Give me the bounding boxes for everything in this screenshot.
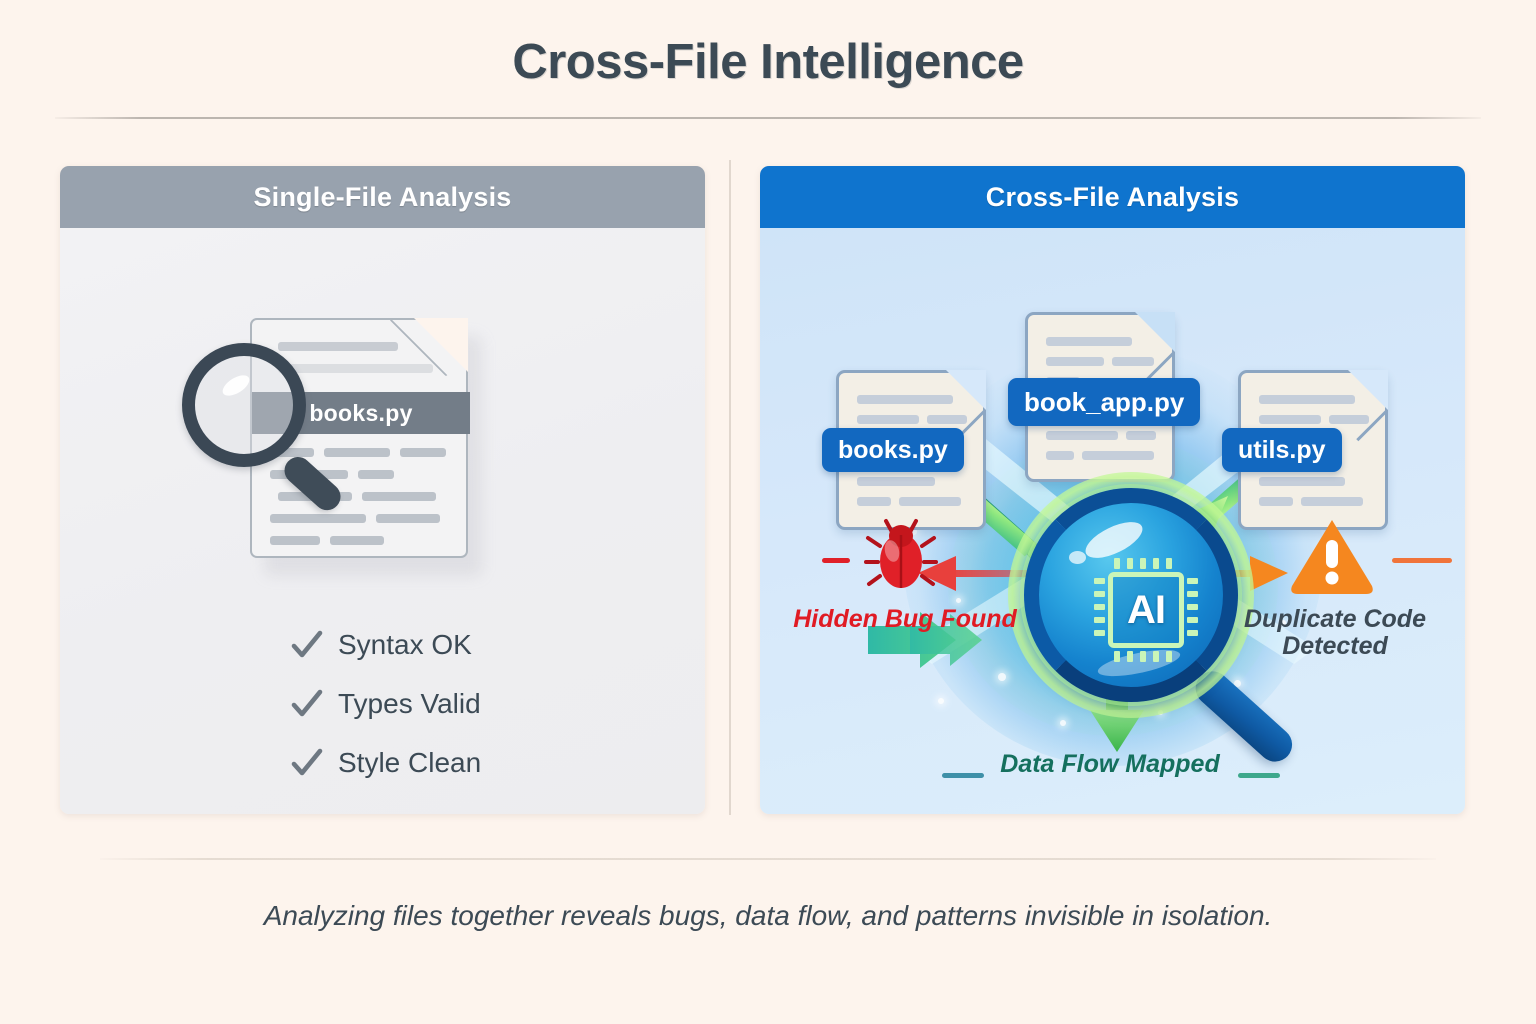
finding-label-duplicate-code: Duplicate Code Detected bbox=[1210, 606, 1460, 659]
panel-body-single-file: books.py Syntax OK Types Valid bbox=[60, 228, 705, 814]
file-text-line bbox=[1046, 357, 1104, 366]
file-fold-corner bbox=[946, 370, 986, 410]
file-text-line bbox=[857, 415, 919, 424]
doc-text-line bbox=[330, 536, 384, 545]
file-text-line bbox=[857, 395, 953, 404]
file-text-line bbox=[1259, 395, 1355, 404]
magnifier-glint bbox=[219, 371, 252, 400]
panel-body-cross-file: books.py book_app.py bbox=[760, 228, 1465, 814]
file-text-line bbox=[1259, 477, 1345, 486]
file-text-line bbox=[1126, 431, 1156, 440]
file-badge-utils[interactable]: utils.py bbox=[1222, 428, 1342, 472]
file-text-line bbox=[857, 497, 891, 506]
checklist-item-label: Types Valid bbox=[338, 688, 481, 720]
doc-text-line bbox=[358, 470, 394, 479]
sparkle bbox=[998, 673, 1006, 681]
check-icon bbox=[290, 687, 324, 721]
bug-icon bbox=[864, 518, 938, 598]
doc-text-line bbox=[270, 536, 320, 545]
file-text-line bbox=[1329, 415, 1369, 424]
finding-label-data-flow: Data Flow Mapped bbox=[965, 751, 1255, 778]
file-fold-corner bbox=[1348, 370, 1388, 410]
doc-text-line bbox=[376, 514, 440, 523]
bug-dash bbox=[822, 558, 850, 563]
page-title: Cross-File Intelligence bbox=[0, 34, 1536, 90]
checklist-item-label: Syntax OK bbox=[338, 629, 472, 661]
sparkle bbox=[956, 598, 961, 603]
panel-header-single-file: Single-File Analysis bbox=[60, 166, 705, 228]
file-text-line bbox=[1046, 431, 1118, 440]
ai-chip-icon: AI bbox=[1094, 558, 1198, 662]
ai-chip-core: AI bbox=[1108, 572, 1184, 648]
footer-divider bbox=[100, 858, 1436, 860]
file-fold-corner bbox=[1135, 312, 1175, 352]
ai-magnifier-ring: AI bbox=[1024, 488, 1238, 702]
file-text-line bbox=[899, 497, 961, 506]
sparkle bbox=[938, 698, 944, 704]
magnifier-handle bbox=[279, 451, 346, 515]
file-text-line bbox=[1112, 357, 1154, 366]
warning-triangle-icon bbox=[1288, 516, 1376, 598]
check-icon bbox=[290, 746, 324, 780]
magnifying-glass-icon bbox=[182, 343, 357, 518]
checklist-item: Syntax OK bbox=[290, 628, 481, 662]
single-file-analysis-panel: Single-File Analysis books. bbox=[60, 166, 705, 814]
panel-divider bbox=[729, 160, 731, 815]
file-text-line bbox=[857, 477, 935, 486]
title-divider bbox=[55, 117, 1481, 119]
checklist-item: Style Clean bbox=[290, 746, 481, 780]
file-badge-books[interactable]: books.py bbox=[822, 428, 964, 472]
file-badge-book-app[interactable]: book_app.py bbox=[1008, 378, 1200, 426]
magnifier-ring bbox=[182, 343, 306, 467]
analysis-checklist: Syntax OK Types Valid Style Clean bbox=[290, 628, 481, 805]
file-text-line bbox=[1259, 415, 1321, 424]
checklist-item: Types Valid bbox=[290, 687, 481, 721]
doc-text-line bbox=[362, 492, 436, 501]
panel-header-cross-file: Cross-File Analysis bbox=[760, 166, 1465, 228]
doc-text-line bbox=[400, 448, 446, 457]
warning-dash bbox=[1392, 558, 1452, 563]
file-text-line bbox=[1082, 451, 1154, 460]
lens-glint bbox=[1069, 551, 1086, 564]
cross-file-analysis-panel: Cross-File Analysis bbox=[760, 166, 1465, 814]
file-text-line bbox=[1046, 337, 1132, 346]
document-fold-edge bbox=[390, 320, 466, 396]
checklist-item-label: Style Clean bbox=[338, 747, 481, 779]
ai-chip-label: AI bbox=[1127, 588, 1165, 633]
file-text-line bbox=[927, 415, 967, 424]
flow-dash-right bbox=[1238, 773, 1280, 778]
footer-caption: Analyzing files together reveals bugs, d… bbox=[0, 900, 1536, 932]
check-icon bbox=[290, 628, 324, 662]
file-text-line bbox=[1046, 451, 1074, 460]
finding-label-hidden-bug: Hidden Bug Found bbox=[780, 606, 1030, 633]
